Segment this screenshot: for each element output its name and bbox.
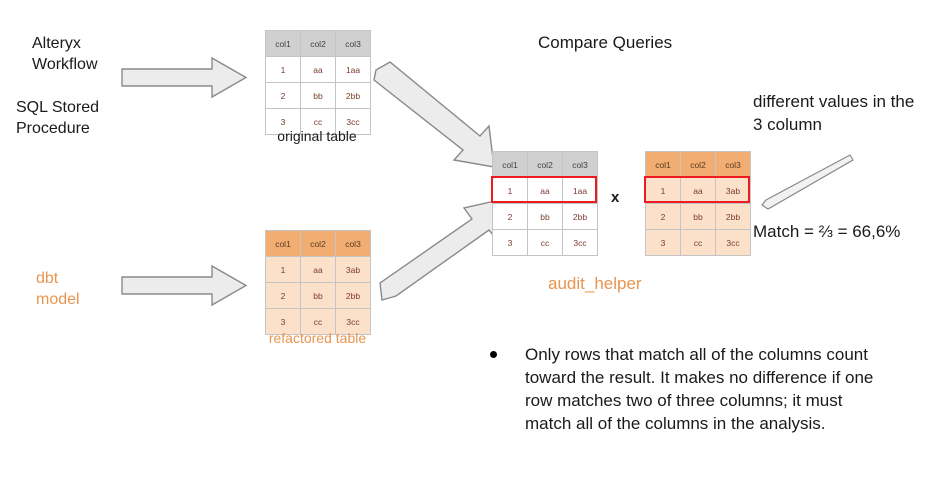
table-cell: 1 bbox=[646, 178, 681, 204]
table-cell: cc bbox=[528, 230, 563, 256]
compare-right-table-wrapper: col1 col2 col3 1 aa 3ab 2 bb 2bb 3 cc 3c… bbox=[645, 151, 751, 256]
column-header: col3 bbox=[716, 152, 751, 178]
table-cell: bb bbox=[681, 204, 716, 230]
original-table: col1 col2 col3 1 aa 1aa 2 bb 2bb 3 cc 3c… bbox=[265, 30, 371, 135]
table-cell: 3ab bbox=[716, 178, 751, 204]
arrow-right-top bbox=[120, 55, 248, 100]
column-header: col1 bbox=[646, 152, 681, 178]
compare-left-table-wrapper: col1 col2 col3 1 aa 1aa 2 bb 2bb 3 cc 3c… bbox=[492, 151, 598, 256]
table-cell: 3cc bbox=[563, 230, 598, 256]
table-cell: 3ab bbox=[336, 257, 371, 283]
bullet-text: Only rows that match all of the columns … bbox=[525, 343, 885, 435]
table-cell: 1 bbox=[266, 257, 301, 283]
annotation-match-formula: Match = ⅔ = 66,6% bbox=[753, 222, 900, 242]
bullet-list-item: Only rows that match all of the columns … bbox=[490, 343, 890, 435]
table-cell: aa bbox=[528, 178, 563, 204]
multiply-symbol: x bbox=[611, 189, 619, 206]
original-table-wrapper: col1 col2 col3 1 aa 1aa 2 bb 2bb 3 cc 3c… bbox=[265, 30, 371, 135]
table-header-row: col1 col2 col3 bbox=[493, 152, 598, 178]
table-cell: 2bb bbox=[563, 204, 598, 230]
source-label-sql-stored-procedure: SQL Stored Procedure bbox=[16, 97, 156, 139]
table-cell: 3 bbox=[493, 230, 528, 256]
arrow-right-bottom bbox=[120, 263, 248, 308]
table-cell: 1aa bbox=[336, 57, 371, 83]
caption-original-table: original table bbox=[265, 128, 369, 144]
table-cell: 2 bbox=[646, 204, 681, 230]
column-header: col1 bbox=[493, 152, 528, 178]
table-cell: 3 bbox=[646, 230, 681, 256]
caption-refactored-table: refactored table bbox=[260, 330, 375, 346]
table-row: 1 aa 1aa bbox=[493, 178, 598, 204]
table-cell: bb bbox=[528, 204, 563, 230]
table-header-row: col1 col2 col3 bbox=[266, 231, 371, 257]
table-cell: aa bbox=[301, 257, 336, 283]
table-row: 3 cc 3cc bbox=[493, 230, 598, 256]
table-row: 1 aa 3ab bbox=[266, 257, 371, 283]
caption-audit-helper: audit_helper bbox=[548, 274, 642, 294]
refactored-table: col1 col2 col3 1 aa 3ab 2 bb 2bb 3 cc 3c… bbox=[265, 230, 371, 335]
table-row: 3 cc 3cc bbox=[646, 230, 751, 256]
compare-left-table: col1 col2 col3 1 aa 1aa 2 bb 2bb 3 cc 3c… bbox=[492, 151, 598, 256]
pointer-line bbox=[762, 155, 854, 211]
column-header: col3 bbox=[336, 31, 371, 57]
table-row: 1 aa 3ab bbox=[646, 178, 751, 204]
column-header: col2 bbox=[681, 152, 716, 178]
table-cell: 2 bbox=[266, 283, 301, 309]
table-row: 2 bb 2bb bbox=[266, 283, 371, 309]
table-cell: 2 bbox=[266, 83, 301, 109]
column-header: col1 bbox=[266, 231, 301, 257]
table-row: 2 bb 2bb bbox=[493, 204, 598, 230]
table-cell: 2bb bbox=[336, 83, 371, 109]
refactored-table-wrapper: col1 col2 col3 1 aa 3ab 2 bb 2bb 3 cc 3c… bbox=[265, 230, 371, 335]
column-header: col3 bbox=[336, 231, 371, 257]
page-title: Compare Queries bbox=[538, 33, 672, 53]
table-cell: 1 bbox=[266, 57, 301, 83]
column-header: col1 bbox=[266, 31, 301, 57]
table-row: 1 aa 1aa bbox=[266, 57, 371, 83]
table-cell: 1aa bbox=[563, 178, 598, 204]
arrow-diagonal-up-right bbox=[380, 195, 510, 305]
table-header-row: col1 col2 col3 bbox=[646, 152, 751, 178]
column-header: col3 bbox=[563, 152, 598, 178]
table-cell: 1 bbox=[493, 178, 528, 204]
table-cell: 3cc bbox=[716, 230, 751, 256]
table-cell: cc bbox=[681, 230, 716, 256]
table-cell: bb bbox=[301, 83, 336, 109]
compare-right-table: col1 col2 col3 1 aa 3ab 2 bb 2bb 3 cc 3c… bbox=[645, 151, 751, 256]
annotation-different-values: different values in the 3 column bbox=[753, 90, 938, 136]
bullet-dot-icon bbox=[490, 351, 497, 358]
table-cell: 2bb bbox=[336, 283, 371, 309]
table-row: 2 bb 2bb bbox=[646, 204, 751, 230]
table-cell: aa bbox=[681, 178, 716, 204]
diagram-canvas: Alteryx Workflow SQL Stored Procedure db… bbox=[0, 0, 942, 488]
column-header: col2 bbox=[301, 31, 336, 57]
table-row: 2 bb 2bb bbox=[266, 83, 371, 109]
column-header: col2 bbox=[528, 152, 563, 178]
column-header: col2 bbox=[301, 231, 336, 257]
arrow-diagonal-down-right bbox=[372, 62, 512, 172]
table-cell: aa bbox=[301, 57, 336, 83]
table-cell: 2 bbox=[493, 204, 528, 230]
table-cell: 2bb bbox=[716, 204, 751, 230]
table-header-row: col1 col2 col3 bbox=[266, 31, 371, 57]
table-cell: bb bbox=[301, 283, 336, 309]
